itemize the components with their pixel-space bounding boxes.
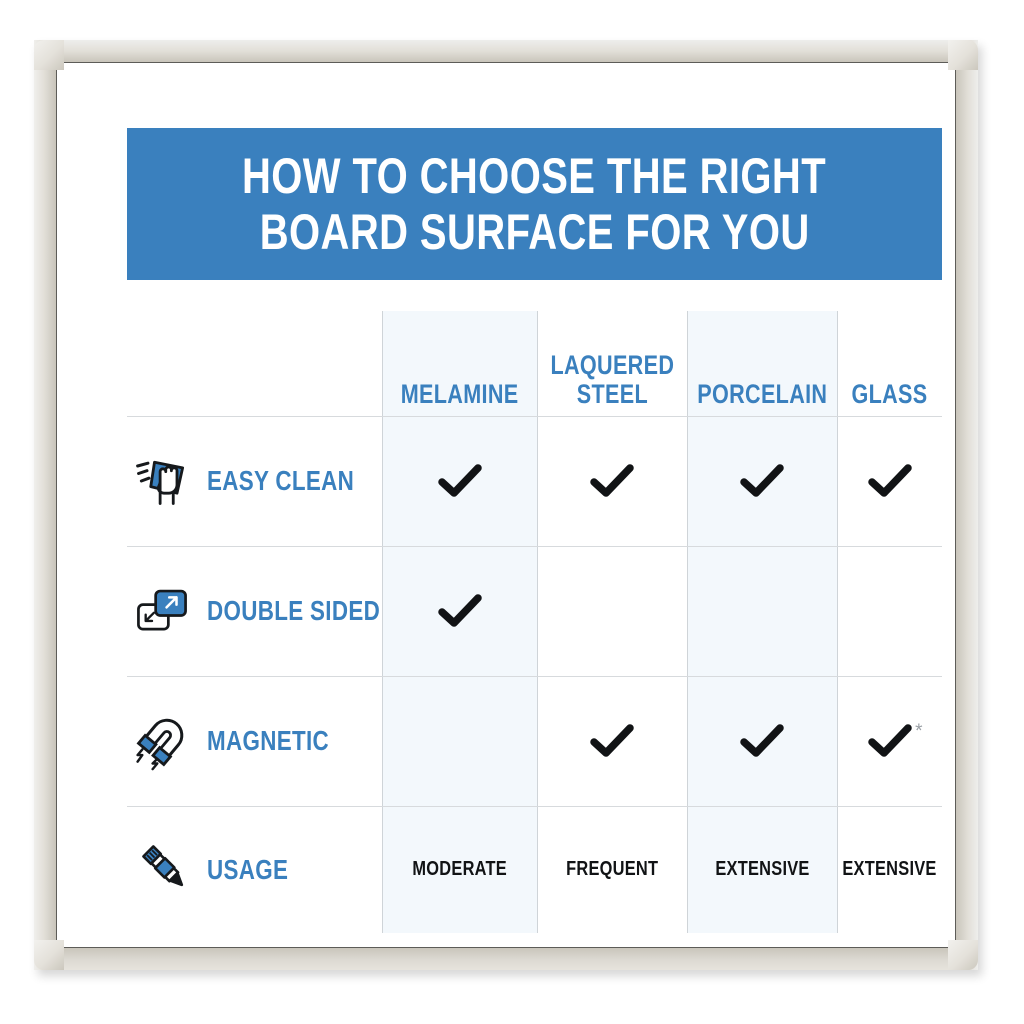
column-header-glass[interactable]: Glass [837, 311, 942, 416]
double-sided-icon [131, 580, 193, 642]
checkmark-icon [590, 724, 634, 758]
title-line-1: How to choose the right [242, 148, 826, 204]
frame-rail-right [955, 40, 978, 970]
column-header-label: Porcelain [697, 380, 827, 408]
checkmark-icon [740, 464, 784, 498]
column-header-label: Melamine [401, 380, 519, 408]
usage-value: Extensive [715, 858, 809, 881]
whiteboard-surface: How to choose the right Board surface fo… [57, 63, 955, 947]
cell-magnetic-melamine [382, 676, 537, 806]
checkmark-icon [868, 464, 912, 498]
cell-usage-porcelain: Extensive [687, 806, 837, 933]
cell-easyclean-laquered-steel [537, 416, 687, 546]
cell-usage-laquered-steel: Frequent [537, 806, 687, 933]
footnote-asterisk: * [915, 722, 922, 741]
cell-magnetic-porcelain [687, 676, 837, 806]
column-header-label: Laquered Steel [550, 351, 674, 408]
table-row: Usage [127, 806, 382, 933]
cell-magnetic-glass: * [837, 676, 942, 806]
checkmark-icon [590, 464, 634, 498]
column-header-melamine[interactable]: Melamine [382, 311, 537, 416]
frame-rail-bottom [34, 947, 978, 970]
cleaning-cloth-icon [131, 450, 193, 512]
table-corner-cell [127, 311, 382, 416]
checkmark-icon: * [868, 724, 912, 758]
checkmark-icon [438, 464, 482, 498]
magnet-icon [131, 710, 193, 772]
frame-rail-left [34, 40, 57, 970]
checkmark-icon [438, 594, 482, 628]
frame-rail-top [34, 40, 978, 63]
row-label-usage: Usage [207, 854, 288, 886]
marker-pen-icon [131, 839, 193, 901]
table-row: Easy Clean [127, 416, 382, 546]
cell-doublesided-melamine [382, 546, 537, 676]
usage-value: Extensive [842, 858, 936, 881]
cell-easyclean-porcelain [687, 416, 837, 546]
table-grid: Melamine Laquered Steel Porcelain Glass [127, 311, 942, 941]
table-row: Magnetic [127, 676, 382, 806]
cell-doublesided-porcelain [687, 546, 837, 676]
usage-value: Frequent [566, 858, 658, 881]
row-label-double-sided: Double Sided [207, 595, 380, 627]
title-banner: How to choose the right Board surface fo… [127, 128, 942, 280]
column-header-label: Glass [851, 380, 927, 408]
frame-corner-bottom-left [34, 940, 64, 970]
row-label-easy-clean: Easy Clean [207, 465, 354, 497]
usage-value: Moderate [412, 858, 507, 881]
cell-easyclean-melamine [382, 416, 537, 546]
checkmark-icon [740, 724, 784, 758]
cell-usage-glass: Extensive [837, 806, 942, 933]
column-header-laquered-steel[interactable]: Laquered Steel [537, 311, 687, 416]
frame-corner-top-right [948, 40, 978, 70]
column-header-porcelain[interactable]: Porcelain [687, 311, 837, 416]
title-line-2: Board surface for you [260, 204, 810, 260]
whiteboard-frame: How to choose the right Board surface fo… [34, 40, 978, 970]
cell-easyclean-glass [837, 416, 942, 546]
cell-magnetic-laquered-steel [537, 676, 687, 806]
comparison-table: Melamine Laquered Steel Porcelain Glass [127, 311, 942, 941]
whiteboard-infographic: How to choose the right Board surface fo… [0, 0, 1024, 1024]
cell-doublesided-laquered-steel [537, 546, 687, 676]
row-label-magnetic: Magnetic [207, 725, 329, 757]
cell-doublesided-glass [837, 546, 942, 676]
table-row: Double Sided [127, 546, 382, 676]
frame-corner-bottom-right [948, 940, 978, 970]
frame-corner-top-left [34, 40, 64, 70]
cell-usage-melamine: Moderate [382, 806, 537, 933]
